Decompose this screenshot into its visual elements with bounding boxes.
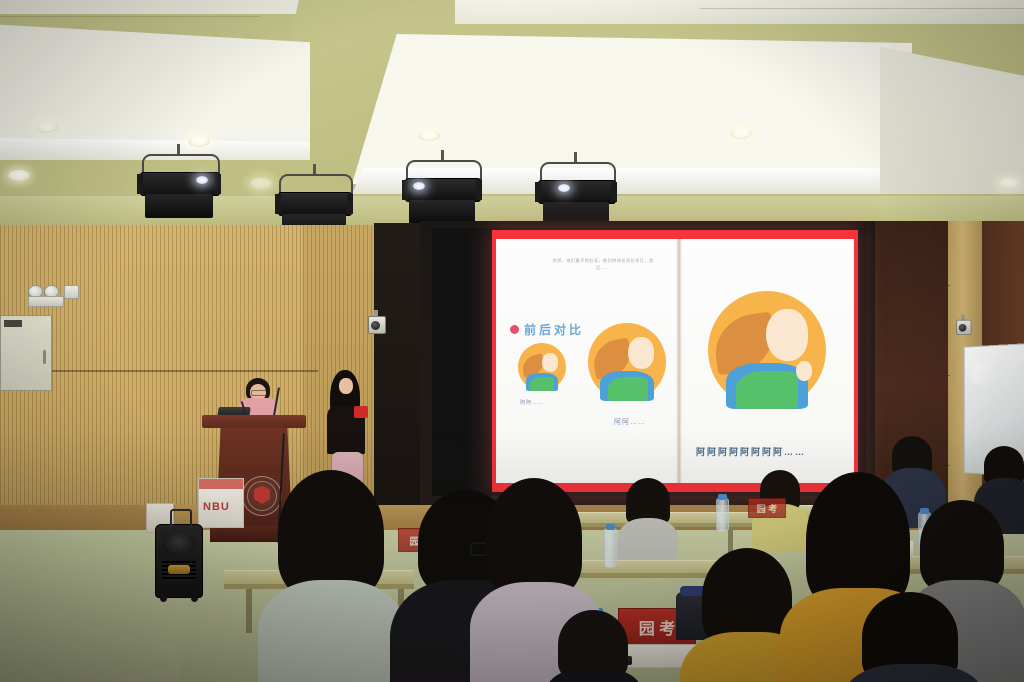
slide-narration-text: 突然，他们看不到拉亮，他们拼命拉亮拉亮灯，然后…… [548,257,658,271]
stage-light-barn-door [402,180,408,200]
slide-bullet-heading: 前后对比 [510,321,584,338]
ceiling-seam [700,8,1024,9]
book-gutter [676,239,682,483]
character-shirt-accent [736,371,798,409]
stage-light-barn-door [275,194,281,214]
wall-seam [875,285,950,286]
speaker-badge [168,565,190,574]
stage-light-lamp-glow [196,176,208,184]
electrical-cabinet[interactable] [0,315,52,391]
ceiling-white-band-right [430,0,1024,24]
university-emblem [242,476,282,516]
stage-light-lamp-glow [413,182,425,190]
lecture-hall-photo: 突然，他们看不到拉亮，他们拼命拉亮拉亮灯，然后…… 前后对比 阿阿…… [0,0,1024,682]
camera-lens-icon [959,324,967,332]
presenter-face [339,378,353,394]
figure-caption-medium: 阿阿…… [614,417,646,427]
ceiling-soffit-far-right [880,44,1024,194]
ceiling-seam [0,16,260,17]
emergency-light [28,285,64,305]
placard-text: 园 考 [757,502,778,515]
security-camera [368,310,384,332]
stage-light-body [538,180,616,204]
placard-text: 园 考 [639,615,675,639]
stage-light-lower-body [145,194,214,218]
ceiling-soffit-left [0,24,310,154]
audience-hair [278,470,384,598]
recessed-downlight [418,130,440,141]
bottle-cap [606,524,615,530]
recessed-downlight [36,122,58,133]
bag-stripe [199,479,243,489]
stage-light-barn-door [347,194,353,214]
slide-page: 突然，他们看不到拉亮，他们拼命拉亮拉亮灯，然后…… 前后对比 阿阿…… [492,230,858,492]
stage-light-fixture [405,156,479,224]
camera-lens-icon [371,321,380,330]
lectern-top [202,415,306,428]
stage-light-barn-door [611,182,617,202]
recessed-downlight [250,178,272,189]
speaker-wheel [160,595,167,602]
illustration-figure-small [518,343,566,391]
figure-caption-small: 阿阿…… [520,399,544,406]
recessed-downlight [8,170,30,181]
slide-top-border [492,230,858,235]
eyeglasses-icon [251,390,267,396]
character-shirt-accent [530,377,554,391]
promotional-bag: NBU [198,478,244,528]
whiteboard-glare [970,361,994,385]
recessed-downlight [998,178,1020,189]
bottle-cap [718,494,727,500]
desk-leg [246,589,252,633]
wall-outlet-box [64,285,79,299]
character-head [542,353,558,372]
audience-hair [486,478,582,596]
stage-light-barn-door [535,182,541,202]
audience-body [258,580,406,682]
speaker-woofer [162,533,196,555]
cabinet-label [4,320,22,327]
slide-bullet-label: 前后对比 [524,321,584,338]
emergency-light-base [28,296,64,307]
recessed-downlight [188,136,210,147]
stage-light-fixture [140,150,218,220]
recessed-downlight [730,128,752,139]
stage-light-barn-door [476,180,482,200]
projection-screen[interactable]: 突然，他们看不到拉亮，他们拼命拉亮拉亮灯，然后…… 前后对比 阿阿…… [492,230,858,492]
bottle-cap [920,508,929,514]
stage-light-body [140,172,220,196]
stage-light-lamp-glow [558,184,570,192]
character-head [766,309,808,361]
floor-left-strip [0,530,180,682]
speaker-wheel [191,595,198,602]
red-card-held [354,406,368,418]
audience-hair [920,500,1004,592]
wall-seam [875,375,950,376]
illustration-figure-large [708,291,826,409]
stage-light-barn-door [137,174,143,194]
slide-content-area: 突然，他们看不到拉亮，他们拼命拉亮拉亮灯，然后…… 前后对比 阿阿…… [496,239,854,483]
water-bottle [604,528,617,568]
security-camera [956,315,970,334]
character-shirt-accent [608,377,648,401]
illustration-figure-medium [588,323,666,401]
speaker-handle [170,509,192,529]
cabinet-handle[interactable] [43,350,46,364]
audience-body [618,518,678,564]
figure-caption-large: 阿阿阿阿阿阿阿阿…… [696,445,806,458]
stage-light-body [278,192,352,216]
desk-placard: 园 考 [748,498,786,518]
bullet-dot-icon [510,325,519,334]
water-bottle [716,498,729,532]
character-head [628,337,654,369]
stage-light-barn-door [215,174,221,194]
stage-light-fixture [538,158,614,226]
portable-pa-speaker [155,524,203,598]
character-hand [796,361,812,381]
ceiling [0,0,1024,232]
bag-label: NBU [203,501,230,513]
